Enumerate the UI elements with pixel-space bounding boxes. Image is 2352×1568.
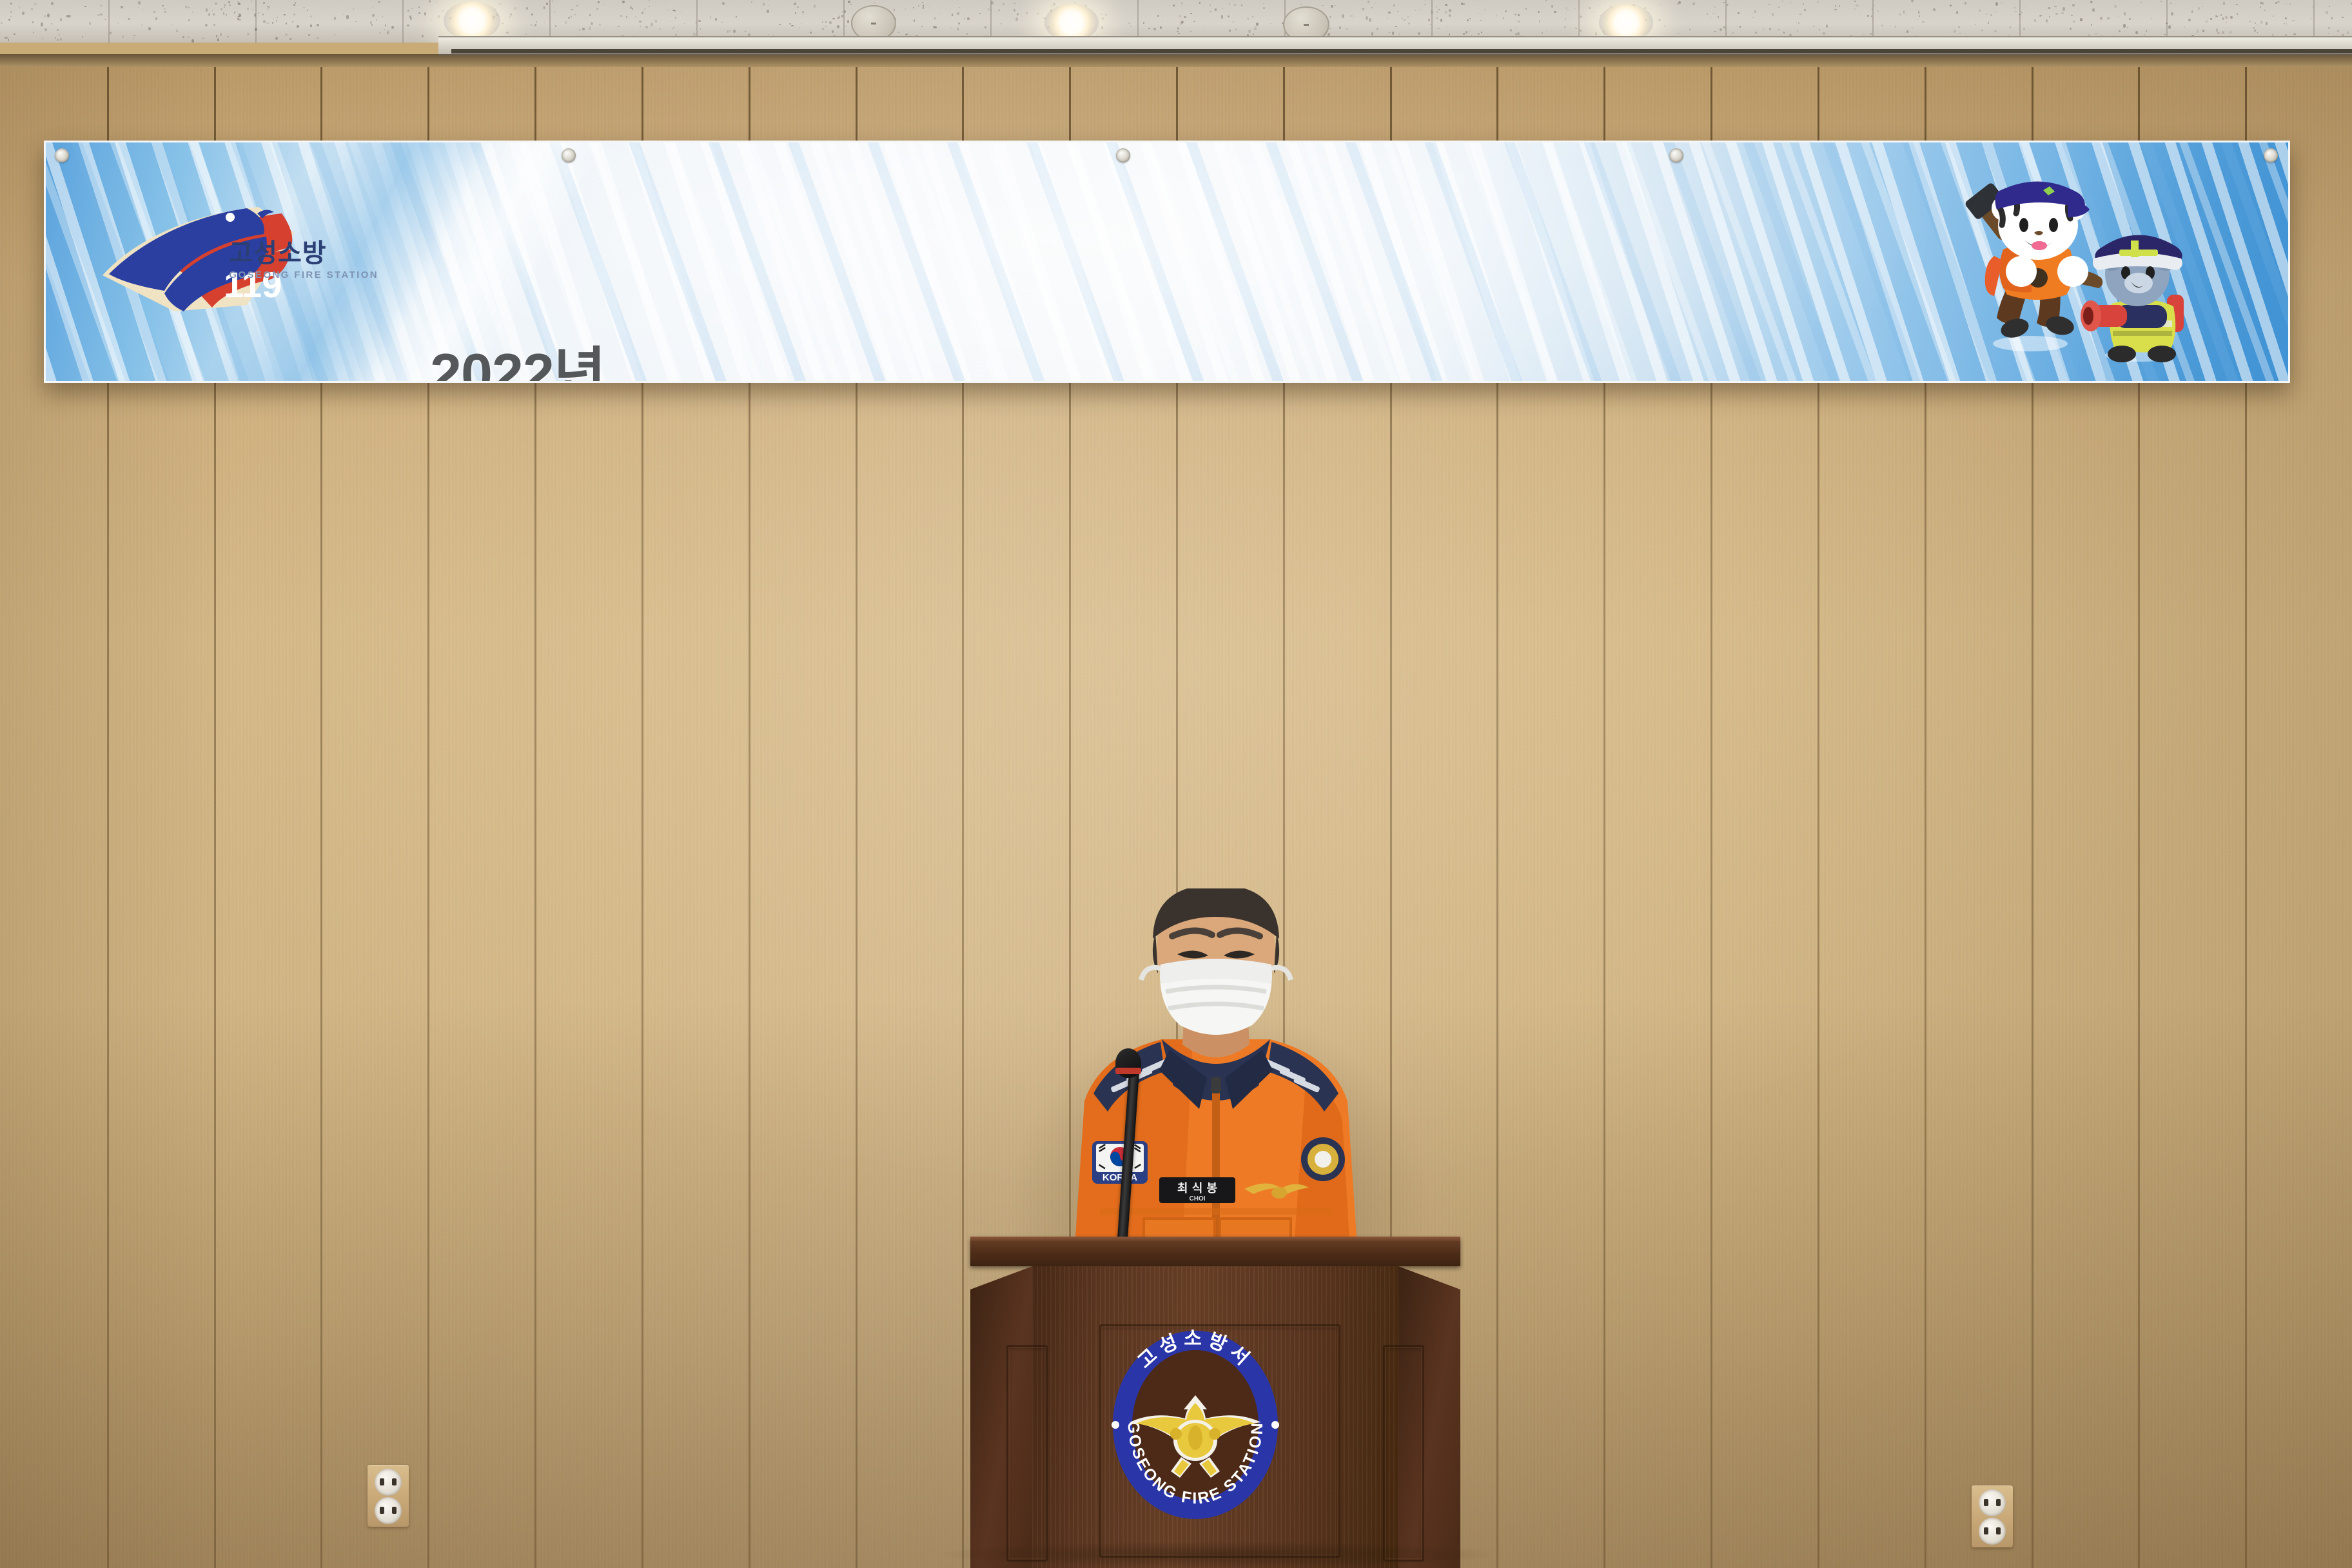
ceiling-tile-speck — [346, 15, 349, 19]
ceiling-tile-speck — [2114, 5, 2117, 7]
ceiling-tile-speck — [2014, 7, 2015, 8]
ceiling-tile-speck — [979, 13, 980, 14]
ceiling-tile-speck — [1228, 15, 1229, 17]
ceiling-tile-speck — [1328, 33, 1330, 36]
ceiling-tile-speck — [1420, 9, 1421, 10]
ceiling-tile-speck — [1436, 17, 1438, 19]
ceiling-tile-speck — [44, 28, 47, 30]
mask-earloop-left — [1141, 968, 1161, 980]
ceiling-tile-speck — [1723, 26, 1726, 28]
ceiling-tile — [255, 0, 404, 43]
ceiling-tile-speck — [1204, 26, 1206, 26]
ceiling-tile-speck — [57, 39, 59, 41]
ceiling-tile-speck — [2311, 18, 2311, 19]
ceiling-tile-speck — [355, 21, 357, 23]
banner-year-text: 2022년 — [430, 328, 605, 383]
ceiling-tile-speck — [1782, 1, 1784, 2]
ceiling-tile-speck — [2216, 28, 2219, 32]
ceiling-tile-speck — [19, 6, 20, 8]
ceiling-tile-speck — [2073, 21, 2075, 23]
ceiling-tile-speck — [589, 26, 591, 30]
ceiling-tile-speck — [133, 35, 135, 36]
ceiling-tile-speck — [251, 1, 252, 1]
ceiling-tile-speck — [185, 6, 188, 8]
ceiling-tile-speck — [630, 6, 632, 9]
ceiling-tile-speck — [1538, 11, 1540, 13]
ceiling-tile-speck — [1714, 6, 1716, 8]
ceiling-tile-speck — [8, 39, 9, 41]
ceiling-tile-speck — [733, 30, 735, 33]
ceiling-tile-speck — [51, 23, 52, 24]
ceiling-tile-speck — [252, 9, 253, 10]
ceiling-tile-speck — [223, 12, 224, 14]
ceiling-tile-speck — [2080, 18, 2082, 21]
ceiling-tile-speck — [898, 32, 899, 32]
ceiling-tile-speck — [1678, 33, 1680, 34]
ceiling-tile-speck — [2286, 23, 2287, 24]
wall-outlet-right — [1972, 1485, 2013, 1547]
ceiling-tile-speck — [1377, 28, 1378, 30]
ceiling-tile-speck — [2230, 16, 2232, 19]
ceiling-tile-speck — [825, 26, 827, 27]
ceiling-tile-speck — [1954, 30, 1956, 33]
ceiling-tile-speck — [2161, 1, 2162, 2]
ceiling-tile-speck — [837, 25, 839, 28]
ceiling-tile-speck — [526, 7, 528, 10]
ceiling-tile-speck — [498, 3, 500, 5]
ceiling-tile-speck — [1480, 20, 1481, 21]
ceiling-tile-speck — [1484, 9, 1485, 10]
ceiling-tile-speck — [1101, 14, 1103, 15]
ceiling-tile-speck — [1148, 28, 1150, 29]
ceiling-tile-speck — [1995, 2, 1998, 6]
ceiling-tile-speck — [1965, 2, 1966, 5]
ceiling-tile-speck — [1664, 25, 1665, 26]
ceiling-tile-speck — [1408, 23, 1410, 24]
ceiling-tile-speck — [501, 3, 502, 5]
ceiling-tile-speck — [789, 23, 791, 24]
name-badge-ko: 최 식 봉 — [1177, 1182, 1217, 1195]
ceiling-tile-speck — [1184, 16, 1186, 18]
ceiling-tile-speck — [1037, 13, 1039, 14]
ceiling-tile-speck — [1241, 5, 1242, 6]
ceiling-tile-speck — [2229, 31, 2231, 34]
ceiling-tile-speck — [1393, 5, 1395, 6]
banner-grommet — [562, 148, 576, 162]
ceiling-tile-speck — [1565, 7, 1567, 9]
ceiling-tile-speck — [372, 14, 375, 17]
ceiling-tile-speck — [1574, 8, 1576, 8]
ceiling-tile-speck — [2284, 23, 2285, 24]
ceiling-tile-speck — [268, 6, 270, 9]
podium-floor-shadow — [935, 1541, 1502, 1568]
ceiling-tile-speck — [905, 34, 906, 35]
ceiling-tile-speck — [579, 29, 580, 31]
ceiling-tile-speck — [655, 20, 657, 23]
ceiling-tile-speck — [922, 2, 923, 3]
ceiling-tile-speck — [2001, 2, 2003, 3]
ceiling-tile-speck — [626, 16, 627, 19]
ceiling-tile-speck — [2063, 7, 2065, 11]
ceiling-tile-speck — [1469, 31, 1469, 32]
ceiling-tile-speck — [431, 20, 432, 22]
ceiling-tile-speck — [1369, 18, 1371, 21]
ceiling-tile-speck — [205, 24, 208, 27]
ceiling-tile-speck — [2202, 30, 2204, 32]
ceiling-tile-speck — [2072, 4, 2074, 6]
ceiling-tile-speck — [14, 34, 15, 35]
ceiling-tile-speck — [335, 34, 335, 35]
ceiling-tile-speck — [1580, 30, 1582, 31]
ceiling-tile-speck — [1229, 30, 1231, 31]
ceiling-tile-speck — [1407, 16, 1409, 18]
ceiling-tile-speck — [2236, 4, 2238, 5]
ceiling-tile-speck — [1021, 2, 1021, 3]
ceiling-tile-speck — [1890, 25, 1891, 26]
ceiling-tile-speck — [141, 24, 142, 26]
podium-left-panel — [1006, 1345, 1048, 1562]
ceiling-tile-speck — [1342, 14, 1344, 17]
mask-earloop-right — [1271, 968, 1291, 980]
banner-grommet — [2264, 148, 2278, 162]
ceiling-tile-speck — [1173, 5, 1175, 6]
ceiling-tile-speck — [894, 9, 895, 11]
ceiling-tile-speck — [1026, 12, 1028, 14]
ceiling-tile-speck — [673, 27, 674, 28]
ceiling-tile-speck — [814, 5, 816, 7]
ceiling-tile-speck — [1255, 26, 1257, 30]
ceiling-tile-speck — [1255, 26, 1255, 27]
ceiling-tile-speck — [1367, 1, 1369, 3]
ceiling-tile-speck — [1, 22, 3, 24]
ceiling-tile-speck — [2123, 24, 2126, 27]
ceiling-tile-speck — [162, 5, 164, 7]
ceiling-tile-speck — [644, 8, 646, 10]
ceiling-tile-speck — [84, 6, 86, 7]
ceiling-tile-speck — [913, 7, 914, 8]
ceiling-tile-speck — [1418, 32, 1420, 35]
ceiling-tile-speck — [1517, 32, 1520, 35]
ceiling-tile-speck — [536, 21, 537, 23]
ceiling-tile-speck — [34, 3, 37, 5]
ceiling-tile-speck — [286, 23, 287, 24]
ceiling-tile-speck — [1362, 8, 1365, 10]
ceiling-tile-speck — [1346, 28, 1347, 30]
ceiling-tile-speck — [1446, 26, 1447, 26]
ceiling-tile-speck — [2061, 12, 2064, 15]
ceiling-tile-speck — [191, 39, 193, 42]
ceiling-tile-speck — [934, 17, 936, 19]
ceiling-tile-speck — [1351, 15, 1353, 17]
ceiling-tile-speck — [928, 6, 929, 7]
ceiling-tile-speck — [1772, 13, 1774, 16]
ceiling-tile-speck — [651, 23, 653, 26]
ceiling-tile-speck — [82, 36, 83, 37]
ceiling-tile-speck — [1803, 3, 1805, 5]
ceiling-tile-speck — [1564, 26, 1566, 28]
podium-top-surface — [970, 1237, 1460, 1266]
ceiling-tile-speck — [604, 4, 605, 5]
ceiling-tile-speck — [1968, 15, 1968, 16]
mascot-group — [1953, 168, 2211, 368]
ceiling-tile-speck — [506, 32, 509, 34]
ceiling-tile-speck — [379, 32, 381, 34]
ceiling-tile-speck — [810, 32, 812, 34]
ceiling-tile-speck — [829, 21, 832, 24]
ceiling-tile-speck — [1797, 30, 1798, 32]
ceiling-tile-speck — [1769, 28, 1770, 30]
ceiling-tile-speck — [1874, 5, 1874, 6]
ceiling-tile-speck — [695, 22, 697, 23]
ceiling-tile-speck — [217, 39, 219, 41]
ceiling-tile-speck — [1017, 13, 1019, 15]
ceiling-tile-speck — [1727, 4, 1728, 6]
ceiling-tile-speck — [574, 14, 576, 15]
ceiling-tile-speck — [2237, 14, 2238, 14]
ceiling-tile-speck — [1525, 1, 1525, 1]
ceiling-tile-speck — [68, 15, 71, 17]
ceiling-tile-speck — [1438, 28, 1440, 29]
ceiling-tile-speck — [514, 7, 516, 10]
ceiling-tile-speck — [850, 4, 852, 5]
ceiling-tile-speck — [546, 3, 548, 5]
ceiling-tile-speck — [1179, 15, 1181, 17]
ceiling-tile-speck — [649, 6, 649, 6]
ceiling-tile-speck — [1778, 29, 1779, 30]
outlet-socket — [375, 1497, 402, 1524]
ceiling-tile-speck — [1510, 29, 1512, 32]
ceiling-tile-speck — [591, 22, 593, 25]
ceiling-tile-speck — [1051, 5, 1052, 7]
ceiling-tile-speck — [2293, 34, 2296, 35]
ceiling-tile-speck — [2191, 10, 2193, 12]
ceiling-tile-speck — [384, 29, 384, 30]
ceiling-tile-speck — [148, 27, 151, 30]
ceiling-tile-speck — [1863, 34, 1865, 35]
ceiling-tile-speck — [2326, 11, 2328, 14]
ceiling-tile-speck — [1101, 26, 1103, 29]
ceiling-tile-speck — [164, 8, 166, 10]
ceiling-tile-speck — [874, 2, 876, 3]
ceiling-tile-speck — [317, 37, 318, 39]
ceiling-tile-speck — [1796, 23, 1797, 24]
ceiling-tile-speck — [1918, 10, 1920, 13]
outlet-socket — [1979, 1518, 2006, 1545]
ceiling-tile-speck — [370, 21, 372, 24]
ceiling-tile-speck — [1190, 13, 1191, 14]
ceiling-tile-speck — [2198, 7, 2200, 10]
ceiling-tile-speck — [2272, 34, 2273, 35]
ceiling-tile-speck — [220, 8, 222, 10]
ceiling-tile-speck — [297, 25, 299, 28]
ceiling-tile-speck — [2289, 3, 2291, 5]
ceiling-tile-speck — [555, 25, 556, 27]
ceiling-tile-speck — [842, 11, 843, 12]
ceiling-tile-speck — [1186, 6, 1186, 7]
ceiling-tile-speck — [22, 12, 24, 15]
ceiling-tile-speck — [639, 21, 641, 22]
ceiling-tile-speck — [409, 15, 411, 18]
ceiling-tile-speck — [2217, 16, 2217, 17]
banner-grommet — [55, 148, 69, 162]
ceiling-tile-speck — [1015, 17, 1018, 21]
logo-station-name: 고성소방 GOSEONG FIRE STATION — [229, 240, 378, 280]
ceiling-tile-speck — [640, 26, 641, 27]
ceiling-tile-speck — [110, 32, 112, 34]
ceiling-tile-speck — [295, 2, 296, 3]
ceiling-tile-speck — [310, 15, 312, 17]
ceiling-tile-speck — [1053, 3, 1055, 6]
ceiling-tile-speck — [2225, 16, 2228, 19]
ceiling-tile-speck — [2285, 17, 2287, 19]
ceiling-tile-speck — [42, 38, 43, 39]
ceiling-tile-speck — [382, 16, 383, 18]
ceiling-tile-speck — [1388, 12, 1391, 14]
ceiling-tile-speck — [2100, 17, 2102, 19]
ceiling-tile-speck — [213, 24, 215, 26]
ceiling-tile-speck — [684, 23, 685, 24]
ceiling-tile-speck — [1215, 8, 1217, 11]
ceiling-tile-speck — [1160, 26, 1162, 29]
wall-outlet-left — [367, 1465, 409, 1527]
ceiling-tile-speck — [258, 12, 259, 14]
korea-patch-label: KOREA — [1102, 1172, 1137, 1183]
ceiling-tile-speck — [1518, 14, 1520, 15]
ceiling-tile-speck — [272, 22, 273, 23]
ceiling-tile-speck — [1739, 26, 1741, 27]
ceiling-tile-speck — [825, 21, 826, 23]
ceiling-tile-speck — [2092, 8, 2094, 11]
ceiling-tile-speck — [957, 28, 959, 30]
ceiling-tile-speck — [1589, 7, 1591, 9]
ceiling-tile-speck — [2070, 28, 2072, 30]
ceiling-tile-speck — [568, 17, 570, 19]
ceiling-tile-speck — [292, 21, 293, 23]
ceiling-tile-speck — [1713, 13, 1714, 14]
ceiling-tile-speck — [418, 12, 420, 15]
ceiling-tile-speck — [988, 8, 989, 10]
ceiling-tile-speck — [576, 5, 578, 6]
ceiling-tile-speck — [1720, 28, 1722, 31]
ceiling-tile-speck — [240, 34, 241, 34]
ceiling-tile-speck — [552, 1, 553, 1]
podium-right-panel — [1383, 1345, 1424, 1562]
ceiling-tile-speck — [1980, 18, 1981, 19]
banner-grommet — [1669, 148, 1683, 162]
ceiling-tile-speck — [959, 7, 960, 8]
ceiling-tile-speck — [2316, 4, 2317, 5]
tiger-mascot — [1964, 181, 2102, 351]
ceiling-tile-speck — [365, 8, 366, 9]
ceiling-tile-speck — [803, 14, 803, 15]
fire-service-119-logo: 119 고성소방 GOSEONG FIRE STATION — [97, 179, 375, 340]
ceiling-tile-speck — [1933, 8, 1935, 11]
ceiling-tile-speck — [779, 24, 781, 25]
ceiling-tile-speck — [308, 34, 310, 36]
ceiling-tile-speck — [1431, 10, 1433, 14]
ceiling-tile-speck — [60, 38, 62, 40]
ceiling-tile-speck — [589, 14, 591, 16]
name-badge-en: CHOI — [1190, 1195, 1206, 1202]
ceiling-tile-speck — [51, 2, 54, 5]
ceiling-tile-speck — [1424, 4, 1426, 5]
ceiling-tile-speck — [1445, 4, 1447, 6]
ceiling-tile-speck — [188, 36, 190, 38]
microphone-red-band — [1115, 1068, 1141, 1074]
ceiling-tile-speck — [795, 12, 796, 14]
ceiling-tile-speck — [674, 10, 676, 12]
ceiling-tile — [0, 0, 110, 43]
ceiling-tile-speck — [117, 23, 119, 24]
ceiling-tile-speck — [967, 17, 970, 20]
ceiling-tile-speck — [2090, 1, 2092, 3]
ceiling-tile-speck — [799, 27, 799, 28]
ceiling-tile-speck — [848, 1, 850, 4]
ceiling-tile-speck — [1478, 33, 1480, 35]
event-banner: 119 고성소방 GOSEONG FIRE STATION 2022년 소방기술… — [44, 141, 2290, 383]
ceiling-tile-speck — [89, 22, 92, 25]
ceiling-tile-speck — [964, 18, 965, 19]
ceiling-tile-speck — [1371, 7, 1373, 8]
ceiling-tile-speck — [31, 8, 33, 10]
ceiling-tile-speck — [2328, 27, 2330, 28]
ceiling-tile-speck — [1769, 4, 1770, 5]
ceiling-tile-speck — [991, 10, 992, 11]
ceiling-tile-speck — [767, 10, 769, 12]
ceiling-tile-speck — [303, 7, 305, 9]
ceiling-tile-speck — [1823, 32, 1825, 35]
ceiling-tile-speck — [273, 19, 273, 21]
ceiling-tile-speck — [1826, 24, 1828, 27]
ceiling-tile-speck — [293, 14, 295, 15]
ceiling-tile-speck — [213, 14, 215, 15]
ceiling-tile-speck — [1389, 32, 1390, 33]
ceiling-tile-speck — [2249, 21, 2251, 23]
ceiling-tile-speck — [1854, 8, 1856, 10]
ceiling-tile-speck — [1023, 20, 1023, 21]
ceiling-tile-speck — [438, 15, 440, 17]
ceiling-tile-speck — [262, 14, 264, 15]
shoulder-round-patch — [1301, 1137, 1345, 1181]
ceiling-tile-speck — [791, 25, 793, 26]
ceiling-tile-speck — [1542, 32, 1543, 34]
ceiling-tile-speck — [2217, 32, 2219, 34]
banner-grommet — [1116, 148, 1130, 162]
ceiling-tile-speck — [41, 23, 43, 26]
ceiling-tile-speck — [391, 26, 394, 29]
ceiling-tile-speck — [1692, 3, 1695, 5]
ceiling-tile-speck — [645, 26, 648, 28]
ceiling-tile-speck — [635, 16, 636, 17]
ceiling-tile-speck — [1721, 15, 1721, 16]
ceiling-tile-speck — [1877, 10, 1878, 12]
ceiling-tile-speck — [1689, 29, 1690, 30]
ceiling-tile-speck — [502, 23, 504, 24]
ceiling-tile-speck — [334, 17, 336, 20]
ceiling-tile-speck — [985, 26, 986, 28]
ceiling-tile-speck — [239, 19, 241, 21]
hvac-grille-slot — [451, 49, 2352, 54]
ceiling-tile-speck — [1580, 15, 1582, 18]
ceiling-tile-speck — [715, 18, 717, 21]
ceiling-tile-speck — [212, 10, 213, 11]
ceiling-tile-speck — [164, 11, 166, 13]
outlet-socket — [375, 1469, 402, 1496]
ceiling-tile-speck — [122, 35, 124, 38]
ceiling-tile-speck — [1723, 2, 1725, 3]
ceiling-tile-speck — [710, 16, 711, 19]
ceiling-tile-speck — [2347, 31, 2349, 34]
